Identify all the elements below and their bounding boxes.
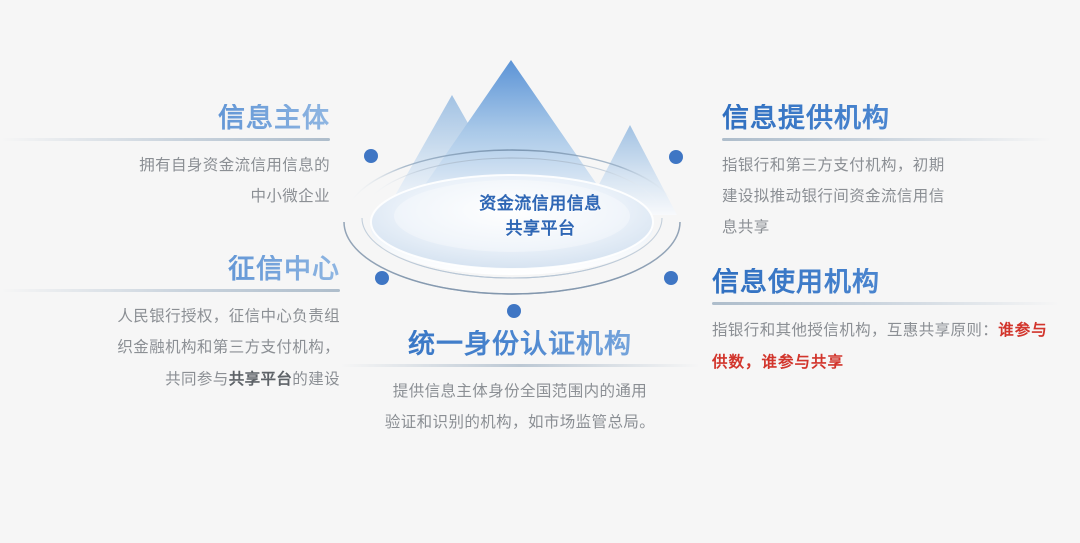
section-body-information-subject: 拥有自身资金流信用信息的 中小微企业 [0,150,330,212]
body-line: 拥有自身资金流信用信息的 [0,150,330,181]
body-text-tail: 的建设 [292,370,340,388]
title-underline [0,138,330,141]
orbit-node-3 [375,271,389,285]
center-platform-illustration [330,40,750,340]
section-information-user: 信息使用机构 指银行和其他授信机构，互惠共享原则：谁参与供数，谁参与共享 [712,268,1060,378]
body-line: 建设拟推动银行间资金流信用信 [722,181,1052,212]
platform-title: 资金流信用信息 共享平台 [388,192,693,241]
body-line: 共同参与共享平台的建设 [0,363,340,395]
section-title-information-provider: 信息提供机构 [722,104,1052,132]
section-body-unified-identity-authority: 提供信息主体身份全国范围内的通用 验证和识别的机构，如市场监管总局。 [340,376,700,438]
section-information-provider: 信息提供机构 指银行和第三方支付机构，初期 建设拟推动银行间资金流信用信 息共享 [722,104,1052,243]
platform-title-line-2: 共享平台 [388,217,693,242]
section-body-credit-reference-center: 人民银行授权，征信中心负责组 织金融机构和第三方支付机构， 共同参与共享平台的建… [0,301,340,395]
body-line: 息共享 [722,212,1052,243]
section-unified-identity-authority: 统一身份认证机构 提供信息主体身份全国范围内的通用 验证和识别的机构，如市场监管… [340,330,700,438]
orbit-node-5 [507,304,521,318]
orbit-node-4 [664,271,678,285]
section-title-information-user: 信息使用机构 [712,268,1060,296]
section-information-subject: 信息主体 拥有自身资金流信用信息的 中小微企业 [0,104,330,212]
title-underline [722,138,1052,141]
section-body-information-provider: 指银行和第三方支付机构，初期 建设拟推动银行间资金流信用信 息共享 [722,150,1052,243]
body-text: 指银行和其他授信机构，互惠共享原则： [712,321,998,339]
platform-title-line-1: 资金流信用信息 [388,192,693,217]
body-line: 中小微企业 [0,181,330,212]
section-credit-reference-center: 征信中心 人民银行授权，征信中心负责组 织金融机构和第三方支付机构， 共同参与共… [0,255,340,395]
body-line: 人民银行授权，征信中心负责组 [0,301,340,332]
body-line: 指银行和第三方支付机构，初期 [722,150,1052,181]
section-title-unified-identity-authority: 统一身份认证机构 [340,330,700,358]
title-underline [0,289,340,292]
orbit-node-2 [669,150,683,164]
body-line: 验证和识别的机构，如市场监管总局。 [340,407,700,438]
section-title-information-subject: 信息主体 [0,104,330,132]
infographic-canvas: 资金流信用信息 共享平台 信息主体 拥有自身资金流信用信息的 中小微企业 征信中… [0,0,1080,543]
body-line: 织金融机构和第三方支付机构， [0,332,340,363]
body-text: 共同参与 [165,370,229,388]
section-title-credit-reference-center: 征信中心 [0,255,340,283]
section-body-information-user: 指银行和其他授信机构，互惠共享原则：谁参与供数，谁参与共享 [712,314,1060,378]
title-underline [712,302,1060,305]
body-line: 提供信息主体身份全国范围内的通用 [340,376,700,407]
body-emphasis: 共享平台 [229,369,293,388]
title-underline [340,364,700,367]
orbit-node-1 [364,149,378,163]
